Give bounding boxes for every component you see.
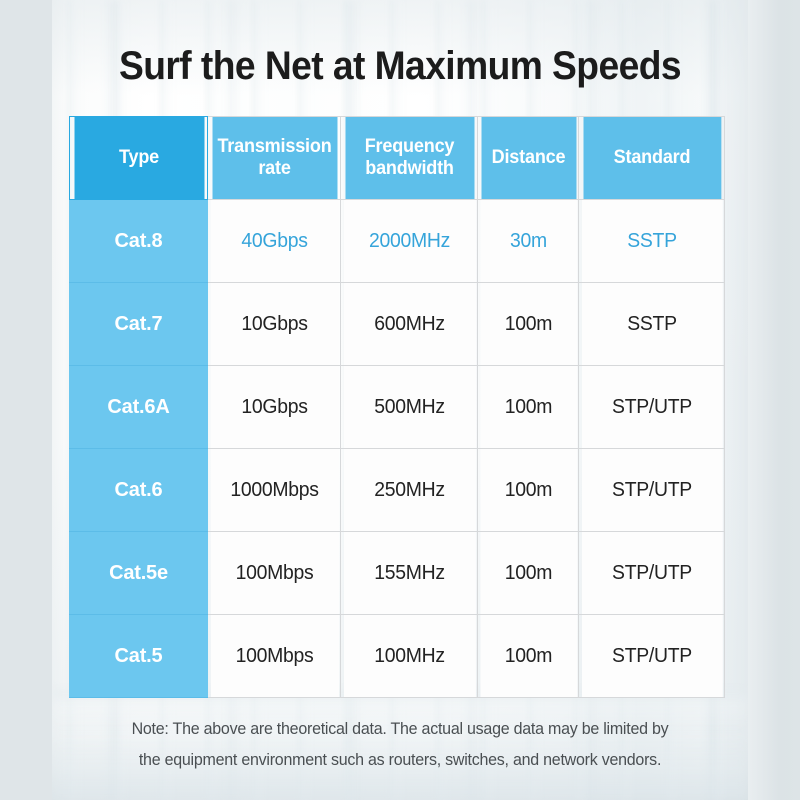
cell-standard: STP/UTP bbox=[581, 366, 723, 449]
product-infographic-page: Surf the Net at Maximum Speeds Type Tran… bbox=[0, 0, 800, 800]
column-header-type: Type bbox=[73, 117, 204, 200]
column-header-distance: Distance bbox=[480, 117, 576, 200]
table-header-row: Type Transmission rate Frequency bandwid… bbox=[70, 117, 725, 200]
cell-standard: STP/UTP bbox=[581, 615, 723, 698]
content-layer: Surf the Net at Maximum Speeds Type Tran… bbox=[0, 0, 800, 800]
footnote: Note: The above are theoretical data. Th… bbox=[70, 714, 730, 775]
footnote-line-1: Note: The above are theoretical data. Th… bbox=[70, 714, 730, 745]
cell-distance: 30m bbox=[479, 200, 577, 283]
cable-category-spec-table: Type Transmission rate Frequency bandwid… bbox=[69, 116, 725, 698]
table-row: Cat.5e 100Mbps 155MHz 100m STP/UTP bbox=[70, 532, 725, 615]
cell-type: Cat.8 bbox=[70, 200, 208, 283]
table-header: Type Transmission rate Frequency bandwid… bbox=[70, 117, 725, 200]
column-header-frequency-bandwidth-line1: Frequency bbox=[364, 136, 454, 157]
table-row: Cat.6 1000Mbps 250MHz 100m STP/UTP bbox=[70, 449, 725, 532]
cell-frequency-bandwidth: 600MHz bbox=[343, 283, 476, 366]
cell-type: Cat.5 bbox=[70, 615, 208, 698]
cell-distance: 100m bbox=[479, 449, 577, 532]
table-row: Cat.8 40Gbps 2000MHz 30m SSTP bbox=[70, 200, 725, 283]
cell-transmission-rate: 10Gbps bbox=[209, 366, 338, 449]
cell-standard: STP/UTP bbox=[581, 449, 723, 532]
column-header-frequency-bandwidth-line2: bandwidth bbox=[365, 158, 454, 179]
cell-type: Cat.7 bbox=[70, 283, 208, 366]
cell-transmission-rate: 40Gbps bbox=[209, 200, 338, 283]
cell-transmission-rate: 100Mbps bbox=[209, 532, 338, 615]
cell-type: Cat.6A bbox=[70, 366, 208, 449]
cell-distance: 100m bbox=[479, 532, 577, 615]
cell-transmission-rate: 10Gbps bbox=[209, 283, 338, 366]
cell-transmission-rate: 100Mbps bbox=[209, 615, 338, 698]
table-row: Cat.5 100Mbps 100MHz 100m STP/UTP bbox=[70, 615, 725, 698]
table-body: Cat.8 40Gbps 2000MHz 30m SSTP Cat.7 10Gb… bbox=[70, 200, 725, 698]
cell-standard: SSTP bbox=[581, 200, 723, 283]
cell-distance: 100m bbox=[479, 366, 577, 449]
cell-distance: 100m bbox=[479, 615, 577, 698]
cell-standard: STP/UTP bbox=[581, 532, 723, 615]
cell-frequency-bandwidth: 100MHz bbox=[343, 615, 476, 698]
footnote-line-2: the equipment environment such as router… bbox=[70, 745, 730, 776]
table-row: Cat.7 10Gbps 600MHz 100m SSTP bbox=[70, 283, 725, 366]
column-header-standard: Standard bbox=[582, 117, 721, 200]
cell-frequency-bandwidth: 500MHz bbox=[343, 366, 476, 449]
spec-table-container: Type Transmission rate Frequency bandwid… bbox=[69, 116, 724, 698]
column-header-transmission-rate: Transmission rate bbox=[211, 117, 337, 200]
cell-distance: 100m bbox=[479, 283, 577, 366]
column-header-transmission-rate-line2: rate bbox=[258, 158, 290, 179]
page-title: Surf the Net at Maximum Speeds bbox=[28, 44, 772, 89]
cell-transmission-rate: 1000Mbps bbox=[209, 449, 338, 532]
table-row: Cat.6A 10Gbps 500MHz 100m STP/UTP bbox=[70, 366, 725, 449]
cell-frequency-bandwidth: 250MHz bbox=[343, 449, 476, 532]
cell-type: Cat.5e bbox=[70, 532, 208, 615]
cell-frequency-bandwidth: 155MHz bbox=[343, 532, 476, 615]
cell-frequency-bandwidth: 2000MHz bbox=[343, 200, 476, 283]
column-header-transmission-rate-line1: Transmission bbox=[217, 136, 331, 157]
column-header-frequency-bandwidth: Frequency bandwidth bbox=[344, 117, 474, 200]
cell-standard: SSTP bbox=[581, 283, 723, 366]
cell-type: Cat.6 bbox=[70, 449, 208, 532]
